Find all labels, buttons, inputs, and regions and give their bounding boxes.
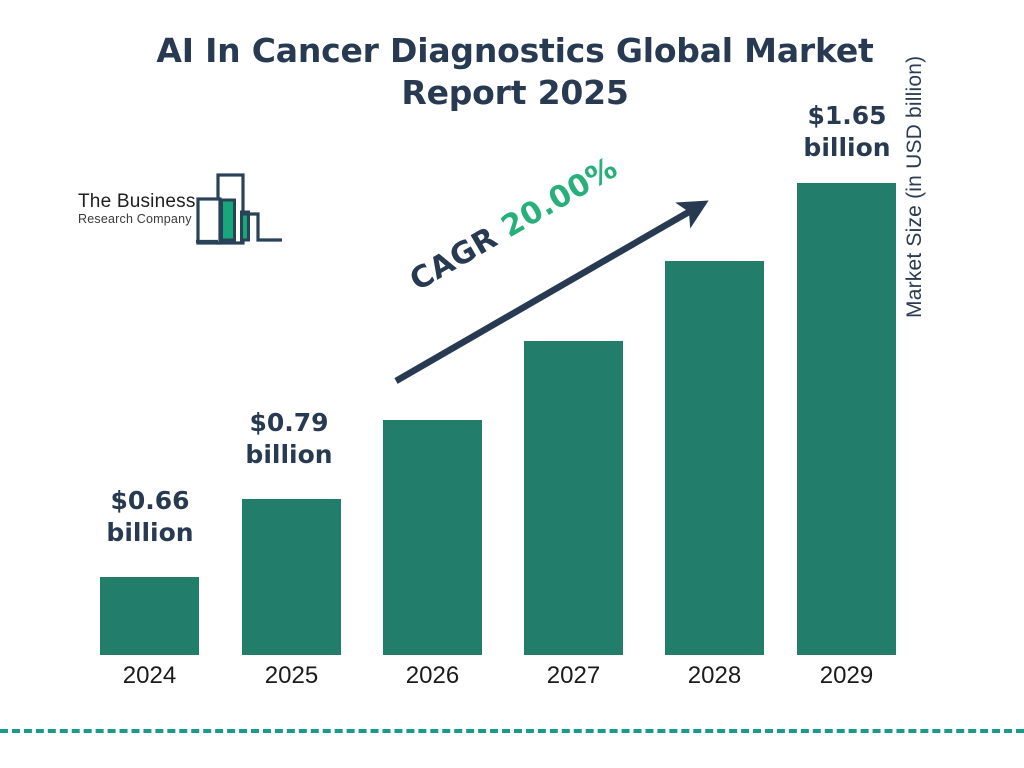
bar-2027: [524, 341, 623, 655]
x-tick-2029: 2029: [797, 662, 896, 690]
bar-2028: [665, 261, 764, 655]
value-label-2024: $0.66 billion: [80, 485, 220, 549]
cagr-value: 20.00%: [496, 150, 624, 245]
x-tick-2028: 2028: [665, 662, 764, 690]
value-label-2029: $1.65 billion: [772, 100, 922, 164]
cagr-annotation: CAGR 20.00%: [404, 150, 624, 298]
bar-2024: [100, 577, 199, 655]
x-tick-2024: 2024: [100, 662, 199, 690]
bar-2029: [797, 183, 896, 655]
x-tick-2026: 2026: [383, 662, 482, 690]
x-tick-2025: 2025: [242, 662, 341, 690]
cagr-label: CAGR: [404, 220, 504, 298]
footer-divider: [0, 729, 1024, 733]
value-label-2025: $0.79 billion: [214, 407, 364, 471]
bar-chart-plot: $0.66 billion $0.79 billion $1.65 billio…: [0, 0, 1024, 768]
y-axis-title: Market Size (in USD billion): [903, 0, 927, 318]
bar-2026: [383, 420, 482, 655]
bar-2025: [242, 499, 341, 655]
x-tick-2027: 2027: [524, 662, 623, 690]
